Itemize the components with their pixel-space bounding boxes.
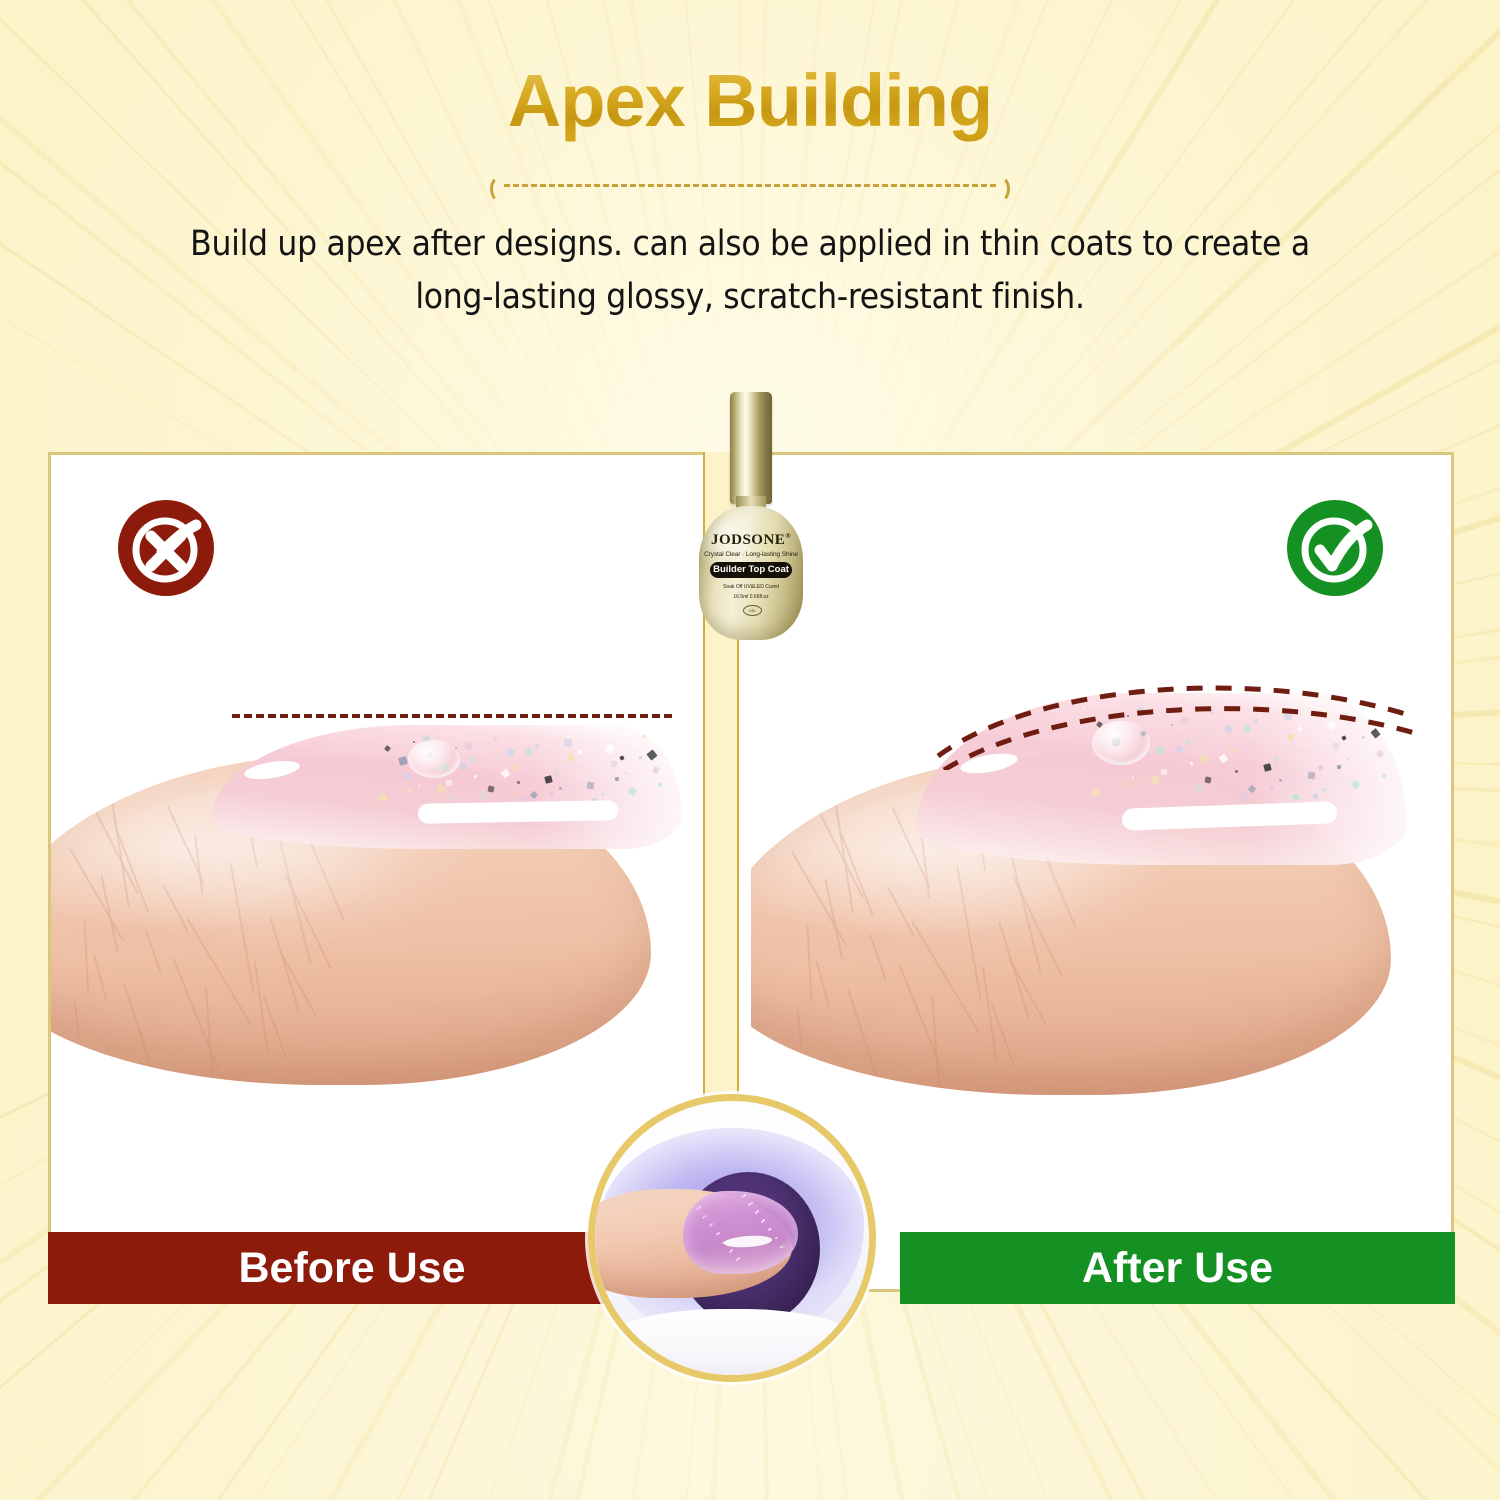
divider-cap-right <box>988 175 1010 203</box>
curved-apex-guide-arcs <box>930 660 1420 770</box>
lamp-base <box>595 1309 869 1375</box>
gel-bubble <box>408 740 460 778</box>
nail-highlight-long <box>418 800 618 823</box>
nail-before <box>211 725 681 849</box>
after-use-label: After Use <box>900 1232 1455 1304</box>
product-tagline: Crystal Clear · Long-lasting Shine <box>699 551 803 558</box>
bottle-seal-icon: GEL <box>743 605 762 616</box>
divider-cap-left <box>490 175 512 203</box>
curing-info: Soak Off UV&LED Cured <box>699 584 803 590</box>
circle-x-icon <box>118 500 214 596</box>
volume-info: 16.5ml 0.56fl.oz <box>699 594 803 600</box>
product-bottle: JODSONE® Crystal Clear · Long-lasting Sh… <box>699 392 803 640</box>
flat-apex-guide-line <box>232 714 672 718</box>
bottle-cap <box>730 392 772 504</box>
page-subtitle: Build up apex after designs. can also be… <box>190 218 1310 324</box>
page-title: Apex Building <box>0 58 1500 143</box>
brand-name: JODSONE® <box>699 532 803 549</box>
brand-text: JODSONE <box>711 532 785 548</box>
trademark-symbol: ® <box>785 532 791 540</box>
product-name-badge: Builder Top Coat <box>710 562 792 578</box>
title-divider <box>490 175 1010 197</box>
uv-lamp-inset-photo <box>588 1094 876 1382</box>
circle-check-icon <box>1287 500 1383 596</box>
divider-dashes <box>504 184 996 187</box>
curing-nail <box>683 1191 798 1273</box>
before-use-label: Before Use <box>48 1232 656 1304</box>
infographic-canvas: Apex Building Build up apex after design… <box>0 0 1500 1500</box>
